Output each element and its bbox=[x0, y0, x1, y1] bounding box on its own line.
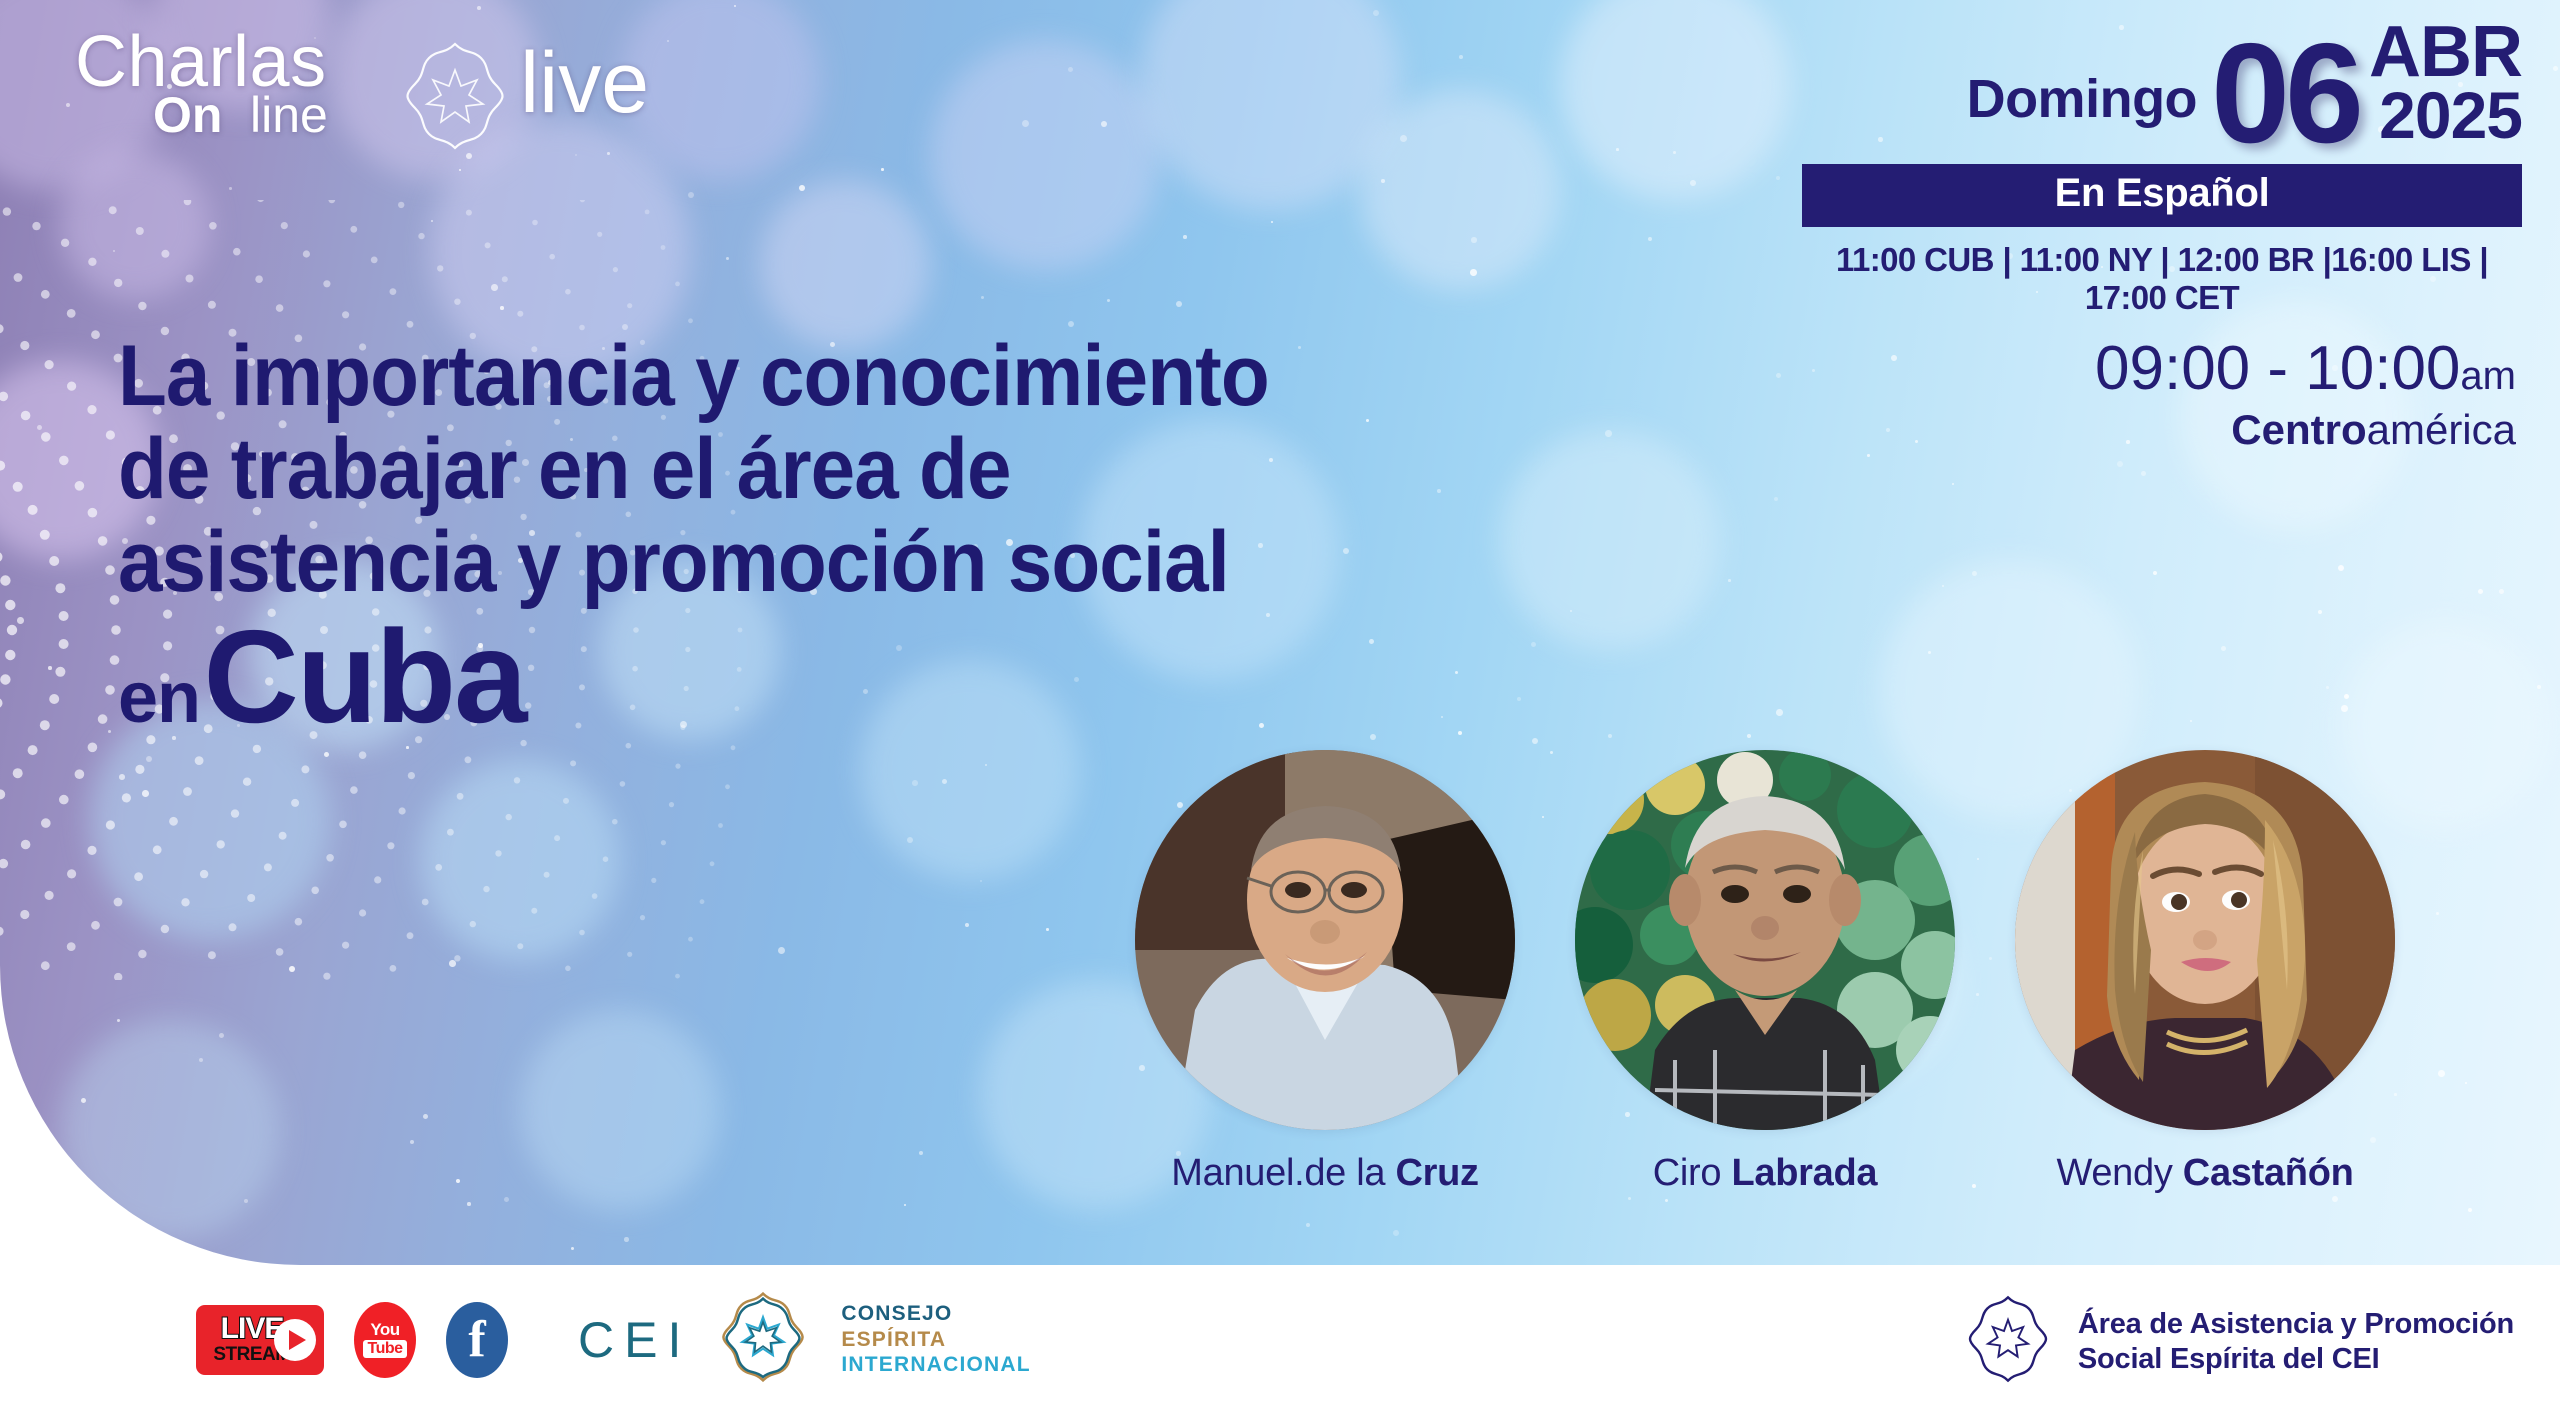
speaker-last-name: Labrada bbox=[1732, 1152, 1878, 1194]
time-range: 09:00 - 10:00am bbox=[1802, 333, 2522, 404]
headline-cuba-word: Cuba bbox=[203, 603, 525, 750]
youtube-you-text: You bbox=[370, 1321, 399, 1338]
headline-line-2: de trabajar en el área de bbox=[118, 423, 1439, 516]
speakers-row: Manuel.de la Cruz bbox=[1135, 750, 2395, 1195]
headline-line-4: en Cuba bbox=[118, 611, 1538, 743]
youtube-icon[interactable]: You Tube bbox=[354, 1302, 416, 1378]
cei-word-consejo: CONSEJO bbox=[841, 1301, 1030, 1327]
speaker-last-name: Cruz bbox=[1396, 1152, 1479, 1194]
event-date-block: Domingo 06 ABR 2025 En Español 11:00 CUB… bbox=[1802, 22, 2522, 454]
logo-line-text: line bbox=[250, 90, 328, 140]
speaker-name: Wendy Castañón bbox=[2015, 1152, 2395, 1195]
gradient-panel: Charlas On line live La importancia y co… bbox=[0, 0, 2560, 1265]
time-region: Centroamérica bbox=[1802, 406, 2522, 454]
area-line-2: Social Espírita del CEI bbox=[2078, 1342, 2514, 1377]
logo-live-text: live bbox=[520, 40, 649, 126]
photo-ciro-labrada bbox=[1575, 750, 1955, 1130]
eight-point-star-icon bbox=[395, 36, 515, 161]
photo-wendy-castanon bbox=[2015, 750, 2395, 1130]
footer-bar: LIVE STREAM You Tube f CEI bbox=[0, 1265, 2560, 1427]
speaker-card: Manuel.de la Cruz bbox=[1135, 750, 1515, 1195]
date-row: Domingo 06 ABR 2025 bbox=[1802, 22, 2522, 152]
speaker-first-name: Wendy bbox=[2056, 1152, 2182, 1194]
photo-manuel-de-la-cruz bbox=[1135, 750, 1515, 1130]
speaker-name: Manuel.de la Cruz bbox=[1135, 1152, 1515, 1195]
footer-left-logos: LIVE STREAM You Tube f CEI bbox=[196, 1287, 1031, 1392]
promo-poster: Charlas On line live La importancia y co… bbox=[0, 0, 2560, 1427]
charlas-online-live-logo: Charlas On line live bbox=[65, 30, 685, 150]
timezone-list: 11:00 CUB | 11:00 NY | 12:00 BR |16:00 L… bbox=[1802, 241, 2522, 317]
time-meridiem: am bbox=[2460, 354, 2516, 398]
speaker-card: Ciro Labrada bbox=[1575, 750, 1955, 1195]
cei-wordlist: CONSEJO ESPÍRITA INTERNACIONAL bbox=[841, 1301, 1030, 1378]
cei-star-icon bbox=[713, 1287, 813, 1392]
area-title: Área de Asistencia y Promoción Social Es… bbox=[2078, 1307, 2514, 1377]
region-bold-part: Centro bbox=[2231, 406, 2366, 453]
cei-word-espirita: ESPÍRITA bbox=[841, 1327, 1030, 1353]
language-banner: En Español bbox=[1802, 164, 2522, 227]
month-year-stack: ABR 2025 bbox=[2369, 22, 2522, 152]
speaker-name: Ciro Labrada bbox=[1575, 1152, 1955, 1195]
headline-line-3: asistencia y promoción social bbox=[118, 516, 1439, 609]
area-star-icon bbox=[1960, 1291, 2056, 1392]
month-label: ABR bbox=[2369, 22, 2522, 84]
speaker-card: Wendy Castañón bbox=[2015, 750, 2395, 1195]
page-title: La importancia y conocimiento de trabaja… bbox=[118, 330, 1538, 743]
day-number: 06 bbox=[2211, 36, 2359, 152]
weekday-label: Domingo bbox=[1967, 68, 2197, 152]
headline-line-1: La importancia y conocimiento bbox=[118, 330, 1439, 423]
speaker-last-name: Castañón bbox=[2183, 1152, 2354, 1194]
cei-word-internacional: INTERNACIONAL bbox=[841, 1352, 1030, 1378]
year-label: 2025 bbox=[2369, 84, 2522, 146]
speaker-first-name: Ciro bbox=[1653, 1152, 1732, 1194]
footer-right-area-logo: Área de Asistencia y Promoción Social Es… bbox=[1960, 1291, 2514, 1392]
cei-wordmark: CEI bbox=[578, 1311, 691, 1369]
headline-en-word: en bbox=[118, 658, 200, 738]
area-line-1: Área de Asistencia y Promoción bbox=[2078, 1307, 2514, 1342]
logo-on-text: On bbox=[153, 90, 222, 140]
region-light-part: américa bbox=[2367, 406, 2516, 453]
cei-logo: CEI CONSEJO ESPÍRITA INTERNACIONAL bbox=[578, 1287, 1031, 1392]
youtube-tube-text: Tube bbox=[363, 1340, 406, 1359]
play-icon bbox=[274, 1319, 316, 1361]
time-range-value: 09:00 - 10:00 bbox=[2095, 334, 2460, 403]
facebook-icon[interactable]: f bbox=[446, 1302, 508, 1378]
live-stream-badge[interactable]: LIVE STREAM bbox=[196, 1305, 324, 1375]
speaker-first-name: Manuel.de la bbox=[1171, 1152, 1395, 1194]
